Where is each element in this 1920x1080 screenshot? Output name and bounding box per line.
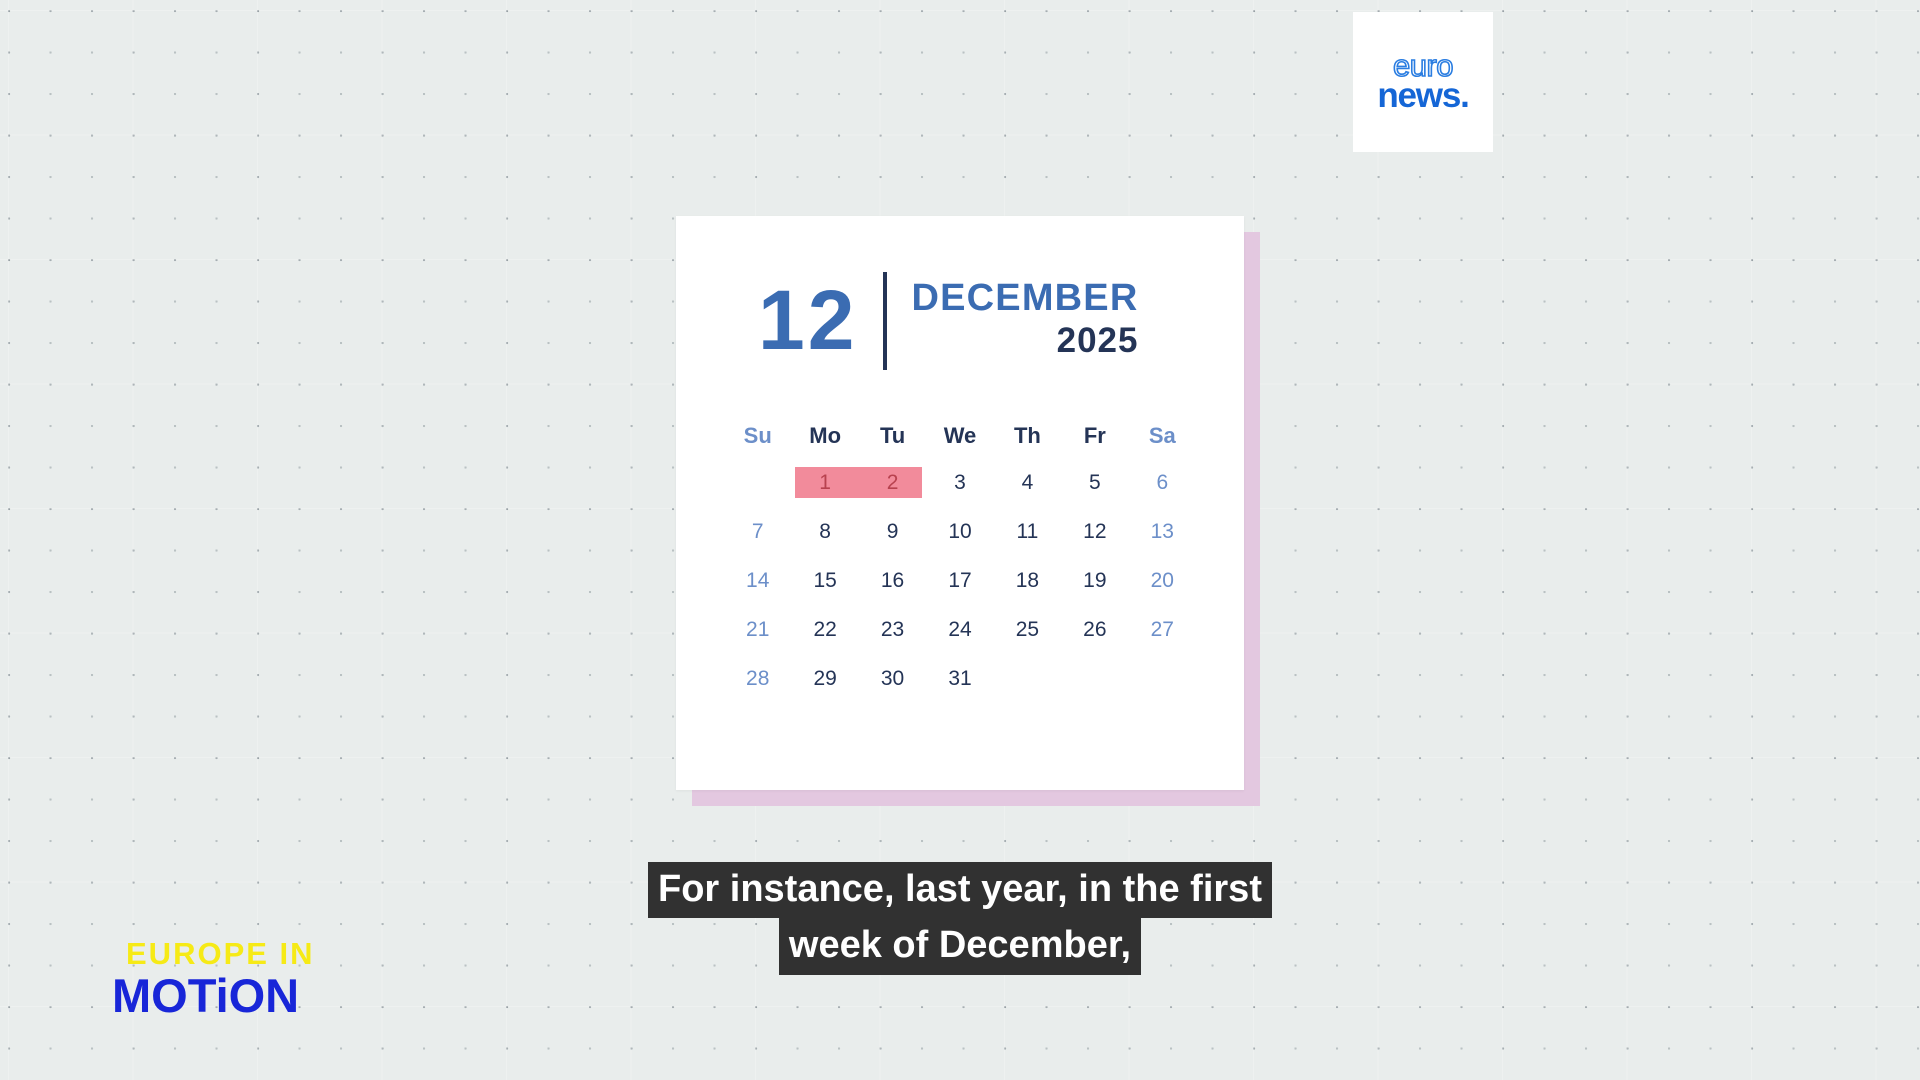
calendar-month-number: 12 (758, 283, 857, 359)
calendar-day-label: 24 (948, 618, 971, 642)
calendar-day-17[interactable]: 17 (926, 556, 993, 605)
calendar-year: 2025 (1057, 321, 1139, 361)
calendar-dow-fr: Fr (1061, 414, 1128, 458)
calendar-header-divider (883, 272, 887, 370)
calendar-day-20[interactable]: 20 (1129, 556, 1196, 605)
calendar-day-3[interactable]: 3 (926, 458, 993, 507)
calendar-day-24[interactable]: 24 (926, 605, 993, 654)
calendar-day-5[interactable]: 5 (1061, 458, 1128, 507)
calendar-week-row: 78910111213 (724, 507, 1196, 556)
calendar-month-name: DECEMBER (911, 279, 1138, 319)
calendar-day-8[interactable]: 8 (791, 507, 858, 556)
calendar-day-label: 31 (948, 667, 971, 691)
calendar-day-14[interactable]: 14 (724, 556, 791, 605)
calendar-day-28[interactable]: 28 (724, 654, 791, 703)
calendar-week-rows: 1234567891011121314151617181920212223242… (724, 458, 1196, 703)
calendar-week-row: 28293031 (724, 654, 1196, 703)
calendar-day-label: 11 (1017, 520, 1039, 544)
calendar-header-text: DECEMBER 2025 (911, 279, 1138, 361)
calendar-week-row: 123456 (724, 458, 1196, 507)
calendar-day-label: 7 (752, 520, 764, 544)
calendar-day-15[interactable]: 15 (791, 556, 858, 605)
calendar-day-16[interactable]: 16 (859, 556, 926, 605)
calendar-day-29[interactable]: 29 (791, 654, 858, 703)
calendar-day-label: 20 (1151, 569, 1174, 593)
calendar-day-label: 18 (1016, 569, 1039, 593)
calendar-day-11[interactable]: 11 (994, 507, 1061, 556)
calendar-day-empty (1061, 654, 1128, 703)
calendar-day-26[interactable]: 26 (1061, 605, 1128, 654)
calendar-dow-sa: Sa (1129, 414, 1196, 458)
calendar-day-25[interactable]: 25 (994, 605, 1061, 654)
calendar-day-19[interactable]: 19 (1061, 556, 1128, 605)
calendar-dow-mo: Mo (791, 414, 858, 458)
europe-in-motion-logo-line2: MOTiON (112, 972, 315, 1019)
calendar-day-label: 9 (887, 520, 899, 544)
calendar-dow-tu: Tu (859, 414, 926, 458)
calendar-day-10[interactable]: 10 (926, 507, 993, 556)
calendar-day-label: 3 (954, 471, 966, 495)
calendar-day-7[interactable]: 7 (724, 507, 791, 556)
screen-background: euro news. 12 DECEMBER 2025 SuMoTuWeThFr… (0, 0, 1920, 1080)
calendar-dow-th: Th (994, 414, 1061, 458)
calendar-week-row: 14151617181920 (724, 556, 1196, 605)
calendar-day-empty (994, 654, 1061, 703)
calendar-day-label: 6 (1156, 471, 1168, 495)
calendar-day-30[interactable]: 30 (859, 654, 926, 703)
calendar-day-23[interactable]: 23 (859, 605, 926, 654)
calendar-day-label: 16 (881, 569, 904, 593)
calendar-day-label: 17 (948, 569, 971, 593)
calendar-day-label: 21 (746, 618, 769, 642)
euronews-logo: euro news. (1353, 12, 1493, 152)
subtitle-line-2: week of December, (779, 918, 1141, 974)
calendar-day-label: 15 (813, 569, 836, 593)
calendar-dow-we: We (926, 414, 993, 458)
calendar-day-header-row: SuMoTuWeThFrSa (724, 414, 1196, 458)
calendar-day-label: 10 (948, 520, 971, 544)
calendar-day-label: 2 (887, 471, 899, 495)
calendar-day-9[interactable]: 9 (859, 507, 926, 556)
calendar-day-label: 8 (819, 520, 831, 544)
calendar-day-label: 26 (1083, 618, 1106, 642)
calendar-day-label: 23 (881, 618, 904, 642)
calendar-day-label: 13 (1151, 520, 1174, 544)
calendar-header: 12 DECEMBER 2025 (676, 216, 1244, 366)
calendar-day-label: 1 (819, 471, 831, 495)
calendar-day-label: 5 (1089, 471, 1101, 495)
calendar-grid: SuMoTuWeThFrSa 1234567891011121314151617… (724, 414, 1196, 703)
calendar-day-label: 25 (1016, 618, 1039, 642)
calendar-day-label: 27 (1151, 618, 1174, 642)
calendar-day-12[interactable]: 12 (1061, 507, 1128, 556)
calendar-day-4[interactable]: 4 (994, 458, 1061, 507)
calendar-week-row: 21222324252627 (724, 605, 1196, 654)
calendar-day-27[interactable]: 27 (1129, 605, 1196, 654)
calendar-day-21[interactable]: 21 (724, 605, 791, 654)
calendar-widget: 12 DECEMBER 2025 SuMoTuWeThFrSa 12345678… (676, 216, 1244, 790)
calendar-day-6[interactable]: 6 (1129, 458, 1196, 507)
subtitle-line-1: For instance, last year, in the first (648, 862, 1272, 918)
calendar-day-label: 22 (813, 618, 836, 642)
calendar-day-label: 28 (746, 667, 769, 691)
calendar-day-31[interactable]: 31 (926, 654, 993, 703)
calendar-card: 12 DECEMBER 2025 SuMoTuWeThFrSa 12345678… (676, 216, 1244, 790)
calendar-day-label: 30 (881, 667, 904, 691)
calendar-day-label: 19 (1083, 569, 1106, 593)
calendar-day-empty (1129, 654, 1196, 703)
euronews-logo-news: news. (1377, 78, 1468, 113)
calendar-day-label: 4 (1022, 471, 1034, 495)
calendar-day-label: 12 (1083, 520, 1106, 544)
calendar-day-2[interactable]: 2 (859, 458, 926, 507)
calendar-dow-su: Su (724, 414, 791, 458)
calendar-day-label: 14 (746, 569, 769, 593)
calendar-day-18[interactable]: 18 (994, 556, 1061, 605)
calendar-day-22[interactable]: 22 (791, 605, 858, 654)
calendar-day-empty (724, 458, 791, 507)
subtitle-block: For instance, last year, in the first we… (0, 862, 1920, 975)
calendar-day-13[interactable]: 13 (1129, 507, 1196, 556)
calendar-day-label: 29 (813, 667, 836, 691)
